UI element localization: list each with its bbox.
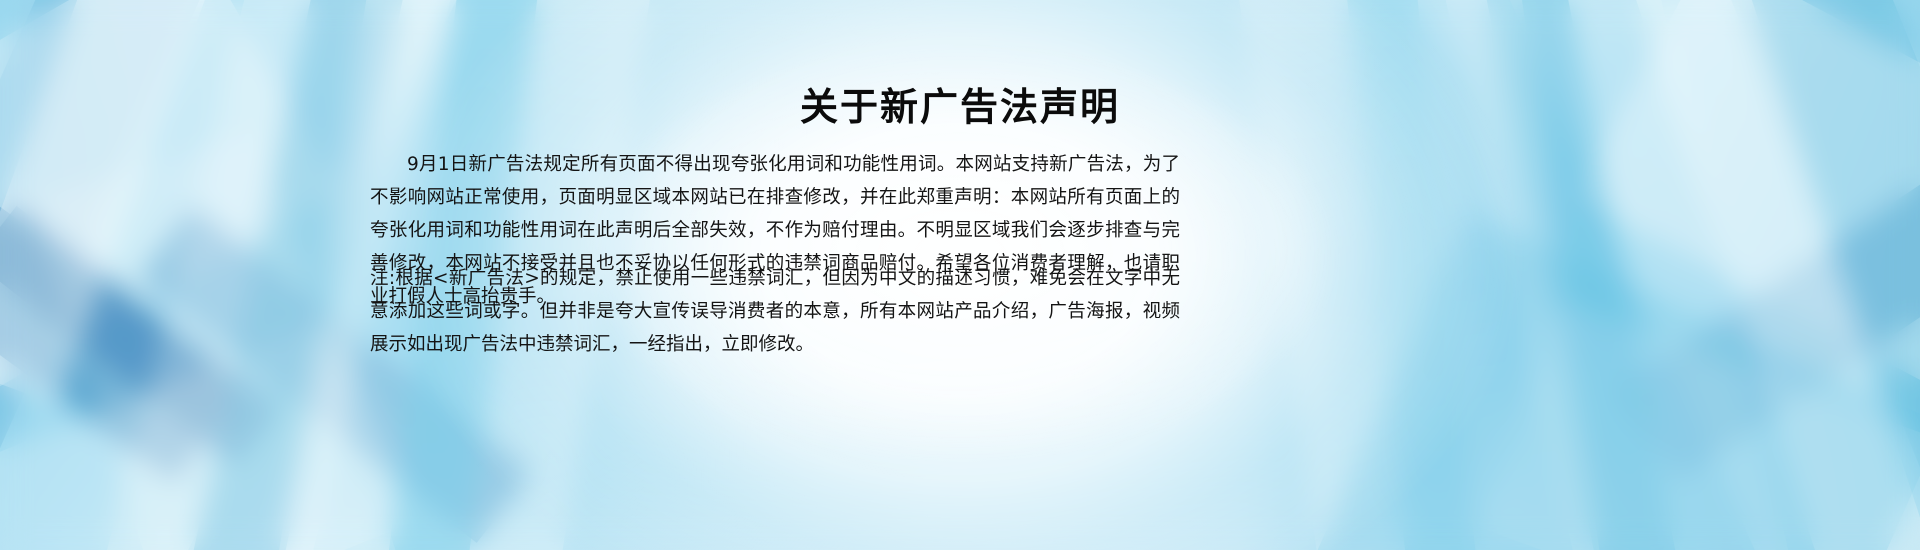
advertising-law-statement-banner: 关于新广告法声明 9月1日新广告法规定所有页面不得出现夸张化用词和功能性用词。本…	[0, 0, 1920, 550]
statement-content: 关于新广告法声明 9月1日新广告法规定所有页面不得出现夸张化用词和功能性用词。本…	[0, 0, 1920, 550]
statement-paragraph-2: 注:根据<新广告法>的规定，禁止使用一些违禁词汇，但因为中文的描述习惯，难免会在…	[370, 262, 1180, 361]
page-title: 关于新广告法声明	[0, 84, 1920, 130]
